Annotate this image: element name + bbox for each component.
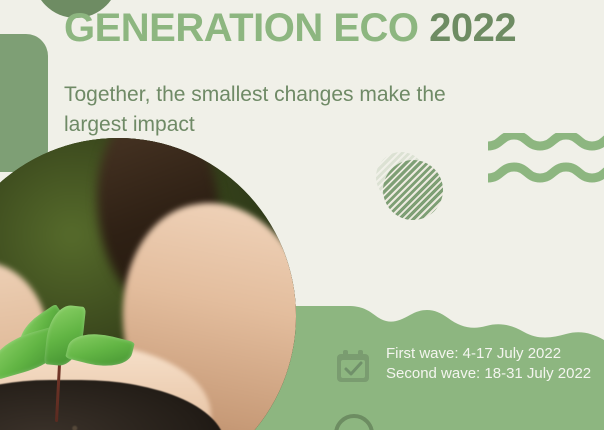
schedule-block: First wave: 4-17 July 2022 Second wave: … <box>334 344 596 386</box>
calendar-check-icon <box>334 348 372 386</box>
wavy-lines-decoration <box>488 133 604 195</box>
subtitle: Together, the smallest changes make the … <box>64 80 464 140</box>
title-year: 2022 <box>429 6 516 50</box>
schedule-text: First wave: 4-17 July 2022 Second wave: … <box>386 344 591 384</box>
hands-holding-seedling-photo <box>0 138 296 430</box>
page-title: GENERATION ECO 2022 <box>64 8 516 48</box>
striped-circle-decoration <box>383 160 443 220</box>
title-main: GENERATION ECO <box>64 6 419 50</box>
schedule-line-1: First wave: 4-17 July 2022 <box>386 344 591 364</box>
poster-canvas: ECO GENERATION ECO 2022 Together, the s <box>0 0 604 430</box>
schedule-line-2: Second wave: 18-31 July 2022 <box>386 364 591 384</box>
